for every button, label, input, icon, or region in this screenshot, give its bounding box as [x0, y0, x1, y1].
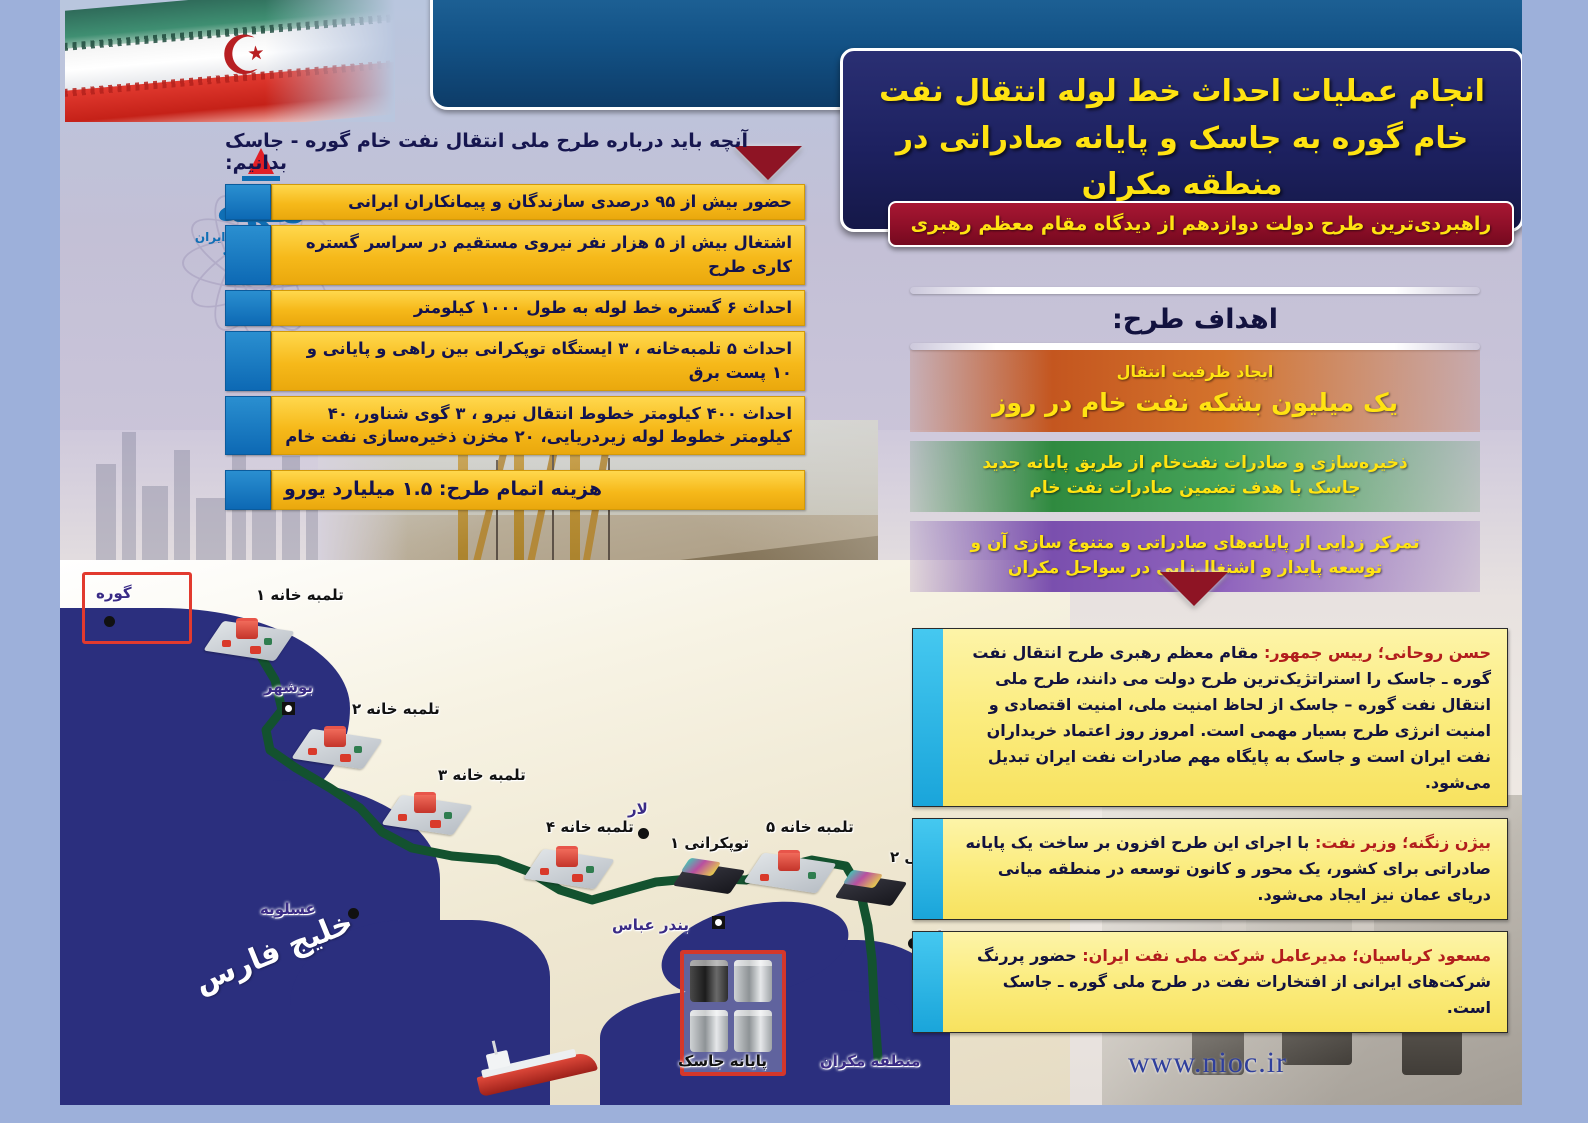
map-label-bandar-abbas: بندر عباس — [612, 916, 689, 934]
bullet-item: حضور بیش از ۹۵ درصدی سازندگان و پیمانکار… — [225, 184, 805, 220]
bullet-item: احداث ۵ تلمبه‌خانه ، ۳ ایستگاه توپکرانی … — [225, 331, 805, 391]
bullet-chip — [225, 396, 271, 456]
left-panel-heading: آنچه باید درباره طرح ملی انتقال نفت خام … — [225, 130, 805, 184]
map-label-lar: لار — [628, 800, 648, 818]
quote-rouhani: حسن روحانی؛ رییس جمهور: مقام معظم رهبری … — [912, 628, 1508, 807]
bullet-item: اشتغال بیش از ۵ هزار نفر نیروی مستقیم در… — [225, 225, 805, 285]
quote-zanganeh: بیژن زنگنه؛ وزیر نفت: با اجرای این طرح ا… — [912, 818, 1508, 920]
goal-item-storage-export: ذخیره‌سازی و صادرات نفت‌خام از طریق پایا… — [910, 441, 1480, 512]
goreh-highlight-box — [82, 572, 192, 644]
city-dot-lar — [638, 828, 649, 839]
quote-speaker: مسعود کرباسیان؛ مدیرعامل شرکت ملی نفت ای… — [1082, 946, 1491, 965]
website-url[interactable]: www.nioc.ir — [1128, 1046, 1287, 1080]
left-info-panel: آنچه باید درباره طرح ملی انتقال نفت خام … — [225, 130, 805, 515]
map-label-pump-4: تلمبه خانه ۴ — [546, 818, 634, 836]
cost-row: هزینه اتمام طرح: ۱.۵ میلیارد یورو — [225, 470, 805, 510]
map-label-pump-5: تلمبه خانه ۵ — [766, 818, 854, 836]
goal-decentral-line1: تمرکز زدایی از پایانه‌های صادراتی و متنو… — [932, 531, 1458, 557]
goal-item-capacity: ایجاد ظرفیت انتقال یک میلیون بشکه نفت خا… — [910, 350, 1480, 432]
quote-karbasian: مسعود کرباسیان؛ مدیرعامل شرکت ملی نفت ای… — [912, 931, 1508, 1033]
map-label-bushehr: بوشهر — [264, 678, 313, 696]
page-subtitle: راهبردی‌ترین طرح دولت دوازدهم از دیدگاه … — [911, 213, 1492, 235]
goals-panel: اهداف طرح: ایجاد ظرفیت انتقال یک میلیون … — [910, 287, 1480, 592]
map-label-pump-2: تلمبه خانه ۲ — [352, 700, 440, 718]
map-label-asaluyeh: عسلویه — [260, 900, 316, 918]
quote-speaker: حسن روحانی؛ رییس جمهور: — [1264, 643, 1491, 662]
map-label-pig-1: توپکرانی ۱ — [670, 834, 749, 852]
pump-station-1-icon — [210, 618, 288, 658]
goals-rule-bottom — [910, 343, 1480, 350]
quote-tab — [913, 819, 943, 919]
pump-station-5-icon — [750, 850, 830, 892]
project-cost-text: هزینه اتمام طرح: ۱.۵ میلیارد یورو — [284, 476, 792, 504]
map-label-makran-region: منطقه مکران — [820, 1052, 920, 1070]
infographic-poster: ☪ — [0, 0, 1588, 1123]
quotes-panel: حسن روحانی؛ رییس جمهور: مقام معظم رهبری … — [912, 628, 1508, 1044]
goals-rule-top — [910, 287, 1480, 294]
subtitle-box: راهبردی‌ترین طرح دولت دوازدهم از دیدگاه … — [888, 201, 1514, 247]
bullet-text: احداث ۶ گستره خط لوله به طول ۱۰۰۰ کیلومت… — [284, 296, 792, 320]
goal-capacity-value: یک میلیون بشکه نفت خام در روز — [932, 384, 1458, 422]
pig-station-2-icon — [840, 872, 902, 902]
quote-tab — [913, 932, 943, 1032]
pump-station-4-icon — [530, 846, 608, 886]
quote-tab — [913, 629, 943, 806]
city-dot-asaluyeh — [348, 908, 359, 919]
page-title: انجام عملیات احداث خط لوله انتقال نفت خا… — [865, 69, 1499, 209]
bullet-chip — [225, 290, 271, 326]
pig-station-1-icon — [678, 860, 740, 890]
bullet-text: اشتغال بیش از ۵ هزار نفر نیروی مستقیم در… — [284, 231, 792, 279]
goals-title: اهداف طرح: — [910, 294, 1480, 343]
bullet-chip — [225, 470, 271, 510]
bullet-chip — [225, 184, 271, 220]
bullet-item: احداث ۶ گستره خط لوله به طول ۱۰۰۰ کیلومت… — [225, 290, 805, 326]
bullet-text: حضور بیش از ۹۵ درصدی سازندگان و پیمانکار… — [284, 190, 792, 214]
bullet-item: احداث ۴۰۰ کیلومتر خطوط انتقال نیرو ، ۳ گ… — [225, 396, 805, 456]
bullet-chip — [225, 331, 271, 391]
map-label-pump-3: تلمبه خانه ۳ — [438, 766, 526, 784]
goal-storage-line1: ذخیره‌سازی و صادرات نفت‌خام از طریق پایا… — [932, 451, 1458, 477]
bullet-text: احداث ۴۰۰ کیلومتر خطوط انتقال نیرو ، ۳ گ… — [284, 402, 792, 450]
map-label-pump-1: تلمبه خانه ۱ — [256, 586, 344, 604]
city-marker-bandar-abbas — [712, 916, 725, 929]
pump-station-3-icon — [388, 792, 466, 832]
map-label-jask-terminal: پایانه جاسک — [678, 1052, 767, 1070]
goal-capacity-label: ایجاد ظرفیت انتقال — [932, 360, 1458, 384]
map-label-goreh: گوره — [96, 584, 132, 602]
quote-text: مقام معظم رهبری طرح انتقال نفت گوره ـ جا… — [972, 643, 1491, 792]
goal-storage-line2: جاسک با هدف تضمین صادرات نفت خام — [932, 476, 1458, 502]
poster-canvas: ☪ — [60, 0, 1522, 1105]
city-dot-goreh — [104, 616, 115, 627]
quote-speaker: بیژن زنگنه؛ وزیر نفت: — [1315, 833, 1491, 852]
city-marker-bushehr — [282, 702, 295, 715]
bullet-text: احداث ۵ تلمبه‌خانه ، ۳ ایستگاه توپکرانی … — [284, 337, 792, 385]
bullet-chip — [225, 225, 271, 285]
pump-station-2-icon — [298, 726, 376, 766]
goals-panel-arrow-icon — [1160, 572, 1228, 606]
